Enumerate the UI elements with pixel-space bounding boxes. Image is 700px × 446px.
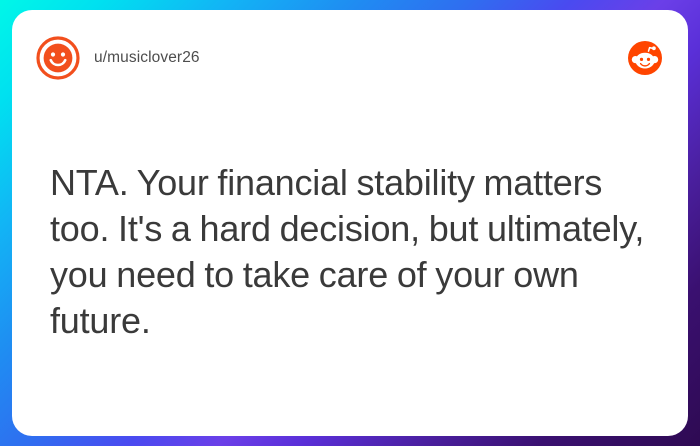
- user-identity-block[interactable]: u/musiclover26: [36, 36, 628, 80]
- reddit-quote-card: u/musiclover26 NTA. Your financial stabi…: [12, 10, 688, 436]
- reddit-snoo-icon[interactable]: [628, 41, 662, 75]
- smiley-face-avatar-icon: [36, 36, 80, 80]
- quote-body-text: NTA. Your financial stability matters to…: [50, 160, 666, 344]
- username-label: u/musiclover26: [94, 49, 200, 67]
- card-header: u/musiclover26: [12, 10, 688, 106]
